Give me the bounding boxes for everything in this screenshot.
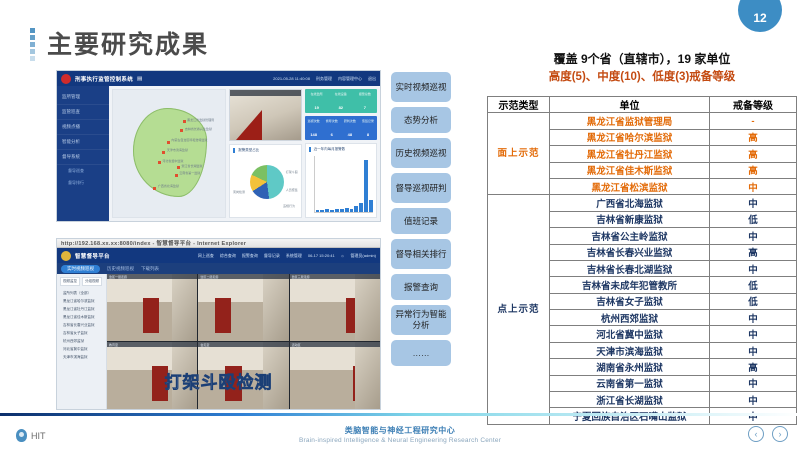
page-number-badge: 12 [738, 0, 782, 32]
level-cell: 低 [710, 293, 797, 309]
fn-button-abnormal-behavior-analysis[interactable]: 异常行为智能分析 [391, 305, 451, 335]
level-cell: 低 [710, 277, 797, 293]
user-account[interactable]: 管理员(admin) [350, 253, 376, 259]
sidebar-top: 监所管理 监管巡查 视频点播 智能分析 督导系统 督导巡查 督导排行 [57, 86, 109, 221]
tree-tab-video[interactable]: 视频监控 [60, 277, 80, 286]
pie-legend-1: 打架斗殴 [286, 170, 298, 174]
th-level: 戒备等级 [710, 97, 797, 113]
app-titlebar-bottom: 智慧督导平台 网上巡查 综合查询 报警查询 督导记录 系统管理 06-17 15… [57, 248, 380, 263]
th-category: 示范类型 [488, 97, 550, 113]
level-cell: 中 [710, 228, 797, 244]
level-cell: 中 [710, 326, 797, 342]
slide-root: 12 主要研究成果 刑事执行监管控制系统 ▤ 2021-05-28 11:40:… [0, 0, 800, 450]
stat-value: 19 [314, 105, 318, 110]
china-map-panel[interactable]: 黑龙江省监狱管理局 吉林省长春兴业监狱 内蒙古自治区呼和浩特监狱 天津市滨海监狱… [112, 89, 226, 218]
title-decoration-dots [30, 24, 35, 61]
unit-cell: 黑龙江省佳木斯监狱 [550, 162, 710, 178]
stat-cell-duty-records: 值班记录 8 [359, 116, 377, 140]
sidebar-item-4[interactable]: 督导系统 [57, 150, 109, 165]
fn-button-duty-record[interactable]: 值班记录 [391, 208, 451, 234]
pie-chart-title: 报警类型占比 [233, 148, 297, 153]
tree-node-8[interactable]: 天津市滨海监狱 [60, 353, 103, 361]
stat-cell-alarm-total: 报警总数 7 [353, 89, 377, 113]
dashboard-canvas: 黑龙江省监狱管理局 吉林省长春兴业监狱 内蒙古自治区呼和浩特监狱 天津市滨海监狱… [109, 86, 380, 221]
stat-key: 在线设备 [329, 92, 353, 96]
map-label-6: 云南省第一监狱 [179, 171, 200, 175]
unit-cell: 天津市滨海监狱 [550, 342, 710, 358]
browser-window-title: http://192.168.xx.xx:8080/index - 智慧督导平台… [61, 239, 246, 247]
level-cell: 中 [710, 195, 797, 211]
pie-chart [250, 165, 284, 199]
table-row: 点上示范 广西省北海监狱 中 [488, 195, 797, 211]
level-cell: 中 [710, 178, 797, 194]
camera-tile[interactable]: 监区三层走廊 [290, 274, 380, 341]
stat-cell-supervision-count: 督导次数 6 [323, 116, 341, 140]
unit-cell: 吉林省长春兴业监狱 [550, 244, 710, 260]
map-label-2: 内蒙古自治区呼和浩特监狱 [171, 138, 207, 142]
topbar-item-2[interactable]: 内容管理中心 [338, 76, 362, 82]
stat-key: 报警总数 [353, 92, 377, 96]
tree-tab-group[interactable]: 分组视频 [82, 277, 102, 286]
level-cell: 高 [710, 359, 797, 375]
fn-button-history-video-patrol[interactable]: 历史视频巡视 [391, 138, 451, 168]
tab-history-patrol[interactable]: 历史视频巡视 [107, 266, 134, 272]
level-cell: 低 [710, 211, 797, 227]
player-control-bar [57, 409, 380, 410]
unit-cell: 黑龙江省哈尔滨监狱 [550, 129, 710, 145]
map-label-7: 广西省北海监狱 [158, 184, 179, 188]
stat-value: 7 [364, 105, 366, 110]
fn-button-more[interactable]: …… [391, 340, 451, 366]
app-badge-icon: ▤ [137, 76, 143, 82]
tree-node-0[interactable]: 监所列表（全部） [60, 289, 103, 297]
tree-node-7[interactable]: 河北省冀中监狱 [60, 345, 103, 353]
topbar-item-1[interactable]: 刑务管理 [316, 76, 332, 82]
tab-bar: 实时视频巡视 历史视频巡视 下载列表 [57, 263, 380, 274]
function-button-column: 实时视频巡视 态势分析 历史视频巡视 督导巡视研判 值班记录 督导相关排行 报警… [391, 72, 451, 366]
live-video-thumbnail[interactable] [229, 89, 301, 141]
stat-value: 82 [339, 105, 343, 110]
browser-titlebar: http://192.168.xx.xx:8080/index - 智慧督导平台… [57, 239, 380, 248]
stat-cell-online-sites: 在线监所 19 [305, 89, 329, 113]
sidebar-item-3[interactable]: 智能分析 [57, 135, 109, 150]
screenshot-supervision-platform: http://192.168.xx.xx:8080/index - 智慧督导平台… [56, 238, 381, 410]
table-row: 面上示范 黑龙江省监狱管理局 - [488, 113, 797, 129]
app-titlebar-top: 刑事执行监管控制系统 ▤ 2021-05-28 11:40:08 刑务管理 内容… [57, 71, 380, 86]
camera-label: 教育室 [109, 343, 118, 347]
unit-cell: 广西省北海监狱 [550, 195, 710, 211]
topbar-time: 2021-05-28 11:40:08 [273, 76, 310, 81]
level-cell: 中 [710, 408, 797, 424]
camera-label: 监区三层走廊 [292, 275, 310, 279]
pie-legend-2: 人员聚集 [286, 188, 298, 192]
prev-slide-button[interactable]: ‹ [748, 426, 764, 442]
unit-cell: 河北省冀中监狱 [550, 326, 710, 342]
unit-cell: 宁夏回族自治区石嘴山监狱 [550, 408, 710, 424]
map-label-5: 浙江省长湖监狱 [181, 164, 202, 168]
fn-button-live-video-patrol[interactable]: 实时视频巡视 [391, 72, 451, 102]
tree-node-4[interactable]: 吉林省长春兴业监狱 [60, 321, 103, 329]
tab-live-patrol[interactable]: 实时视频巡视 [61, 265, 100, 273]
camera-label: 监区二层走廊 [200, 275, 218, 279]
slide-navigation: ‹ › [748, 426, 788, 442]
page-title: 主要研究成果 [30, 24, 209, 61]
stats-column: 在线监所 19 在线设备 82 报警总数 7 [305, 89, 377, 218]
unit-cell: 黑龙江省松滨监狱 [550, 178, 710, 194]
category-cell-mianshang: 面上示范 [488, 113, 550, 195]
next-slide-button[interactable]: › [772, 426, 788, 442]
stat-key: 值班记录 [359, 119, 377, 123]
unit-cell: 吉林省女子监狱 [550, 293, 710, 309]
unit-cell: 浙江省长湖监狱 [550, 392, 710, 408]
level-cell: 中 [710, 392, 797, 408]
pie-legend-0: 离岗检测 [233, 190, 245, 194]
detection-caption: 打架斗殴检测 [57, 368, 380, 393]
deployment-table-wrapper: 示范类型 单位 戒备等级 面上示范 黑龙江省监狱管理局 - 黑龙江省哈尔滨监狱 … [487, 96, 796, 425]
security-level-heading: 高度(5)、中度(10)、低度(3)戒备等级 [487, 68, 797, 84]
tree-node-1[interactable]: 黑龙江省哈尔滨监狱 [60, 297, 103, 305]
bar-chart-plot [314, 156, 373, 213]
deployment-table: 示范类型 单位 戒备等级 面上示范 黑龙江省监狱管理局 - 黑龙江省哈尔滨监狱 … [487, 96, 797, 425]
camera-tile[interactable]: 监区二层走廊 [198, 274, 288, 341]
map-label-4: 河北省冀中监狱 [162, 159, 183, 163]
fn-button-situation-analysis[interactable]: 态势分析 [391, 107, 451, 133]
sidebar-item-2[interactable]: 视频点播 [57, 120, 109, 135]
table-header-row: 示范类型 单位 戒备等级 [488, 97, 797, 113]
camera-label: 监区一层走廊 [109, 275, 127, 279]
sidebar-item-0[interactable]: 监所管理 [57, 90, 109, 105]
footer-center: 类脑智能与神经工程研究中心 Brain-inspired Intelligenc… [0, 425, 800, 444]
level-cell: 高 [710, 162, 797, 178]
video-and-pie-column: 报警类型占比 离岗检测 打架斗殴 人员聚集 违规行为 [229, 89, 301, 218]
tree-node-3[interactable]: 黑龙江省佳木斯监狱 [60, 313, 103, 321]
screenshot-monitoring-system: 刑事执行监管控制系统 ▤ 2021-05-28 11:40:08 刑务管理 内容… [56, 70, 381, 222]
stat-key: 在线监所 [305, 92, 329, 96]
camera-label: 会见室 [200, 343, 209, 347]
fn-button-alarm-query[interactable]: 报警查询 [391, 274, 451, 300]
unit-cell: 吉林省长春北湖监狱 [550, 260, 710, 276]
tab-download-list[interactable]: 下载列表 [141, 266, 159, 272]
pie-legend-3: 违规行为 [283, 204, 295, 208]
unit-cell: 云南省第一监狱 [550, 375, 710, 391]
sidebar-subitem-1[interactable]: 督导排行 [57, 177, 109, 189]
app-name-label-bottom: 智慧督导平台 [75, 252, 110, 260]
stats-green-row: 在线监所 19 在线设备 82 报警总数 7 [305, 89, 377, 113]
monthly-alarm-chart-panel: 近一年内每月报警数 [305, 143, 377, 218]
footer-gradient-divider [0, 413, 800, 416]
sidebar-item-1[interactable]: 监管巡查 [57, 105, 109, 120]
topbar-logout[interactable]: 退出 [368, 76, 376, 82]
unit-cell: 吉林省未成年犯管教所 [550, 277, 710, 293]
stat-value: 48 [348, 132, 352, 137]
stats-blue-row: 巡视次数 148 督导次数 6 研判次数 48 值班记录 [305, 116, 377, 140]
sidebar-subitem-0[interactable]: 督导巡查 [57, 165, 109, 177]
level-cell: 中 [710, 260, 797, 276]
fn-button-supervision-judgement[interactable]: 督导巡视研判 [391, 173, 451, 203]
coverage-heading: 覆盖 9个省（直辖市），19 家单位 [487, 50, 797, 67]
footer-center-en: Brain-inspired Intelligence & Neural Eng… [0, 437, 800, 444]
nav-item-0[interactable]: 网上巡查 [198, 253, 214, 259]
map-label-1: 吉林省长春兴业监狱 [185, 127, 212, 131]
page-title-text: 主要研究成果 [47, 25, 209, 61]
nav-item-4[interactable]: 系统管理 [286, 253, 302, 259]
level-cell: 高 [710, 146, 797, 162]
app-name-label: 刑事执行监管控制系统 [75, 75, 133, 83]
unit-cell: 吉林省新康监狱 [550, 211, 710, 227]
level-cell: 中 [710, 310, 797, 326]
th-unit: 单位 [550, 97, 710, 113]
unit-cell: 杭州西郊监狱 [550, 310, 710, 326]
stat-key: 督导次数 [323, 119, 341, 123]
level-cell: 中 [710, 375, 797, 391]
unit-cell: 湖南省永州监狱 [550, 359, 710, 375]
camera-label: 活动区 [292, 343, 301, 347]
bell-icon[interactable]: ☼ [341, 253, 345, 258]
footer-center-cn: 类脑智能与神经工程研究中心 [0, 425, 800, 436]
tree-node-2[interactable]: 黑龙江省牡丹江监狱 [60, 305, 103, 313]
stat-cell-online-devices: 在线设备 82 [329, 89, 353, 113]
stat-cell-patrol-count: 巡视次数 148 [305, 116, 323, 140]
unit-cell: 吉林省公主岭监狱 [550, 228, 710, 244]
level-cell: 中 [710, 342, 797, 358]
level-cell: 高 [710, 244, 797, 260]
unit-cell: 黑龙江省牡丹江监狱 [550, 146, 710, 162]
map-label-0: 黑龙江省监狱管理局 [187, 118, 214, 122]
fn-button-supervision-ranking[interactable]: 督导相关排行 [391, 239, 451, 269]
alarm-type-pie-panel: 报警类型占比 离岗检测 打架斗殴 人员聚集 违规行为 [229, 144, 301, 218]
tree-node-5[interactable]: 吉林省女子监狱 [60, 329, 103, 337]
nav-item-3[interactable]: 督导记录 [264, 253, 280, 259]
current-time: 06-17 15:20:41 [308, 253, 335, 258]
nav-item-1[interactable]: 综合查询 [220, 253, 236, 259]
app-logo-icon [61, 74, 71, 84]
nav-item-2[interactable]: 报警查询 [242, 253, 258, 259]
camera-tile[interactable]: 监区一层走廊 [107, 274, 197, 341]
stat-value: 6 [331, 132, 333, 137]
stat-cell-judgement-count: 研判次数 48 [341, 116, 359, 140]
bar-chart-title: 近一年内每月报警数 [309, 147, 373, 152]
unit-cell: 黑龙江省监狱管理局 [550, 113, 710, 129]
stat-key: 巡视次数 [305, 119, 323, 123]
map-label-3: 天津市滨海监狱 [167, 148, 188, 152]
level-cell: 高 [710, 129, 797, 145]
stat-value: 148 [310, 132, 317, 137]
stat-key: 研判次数 [341, 119, 359, 123]
stat-value: 8 [367, 132, 369, 137]
level-cell: - [710, 113, 797, 129]
tree-node-6[interactable]: 杭州西郊监狱 [60, 337, 103, 345]
category-cell-dianshang: 点上示范 [488, 195, 550, 424]
